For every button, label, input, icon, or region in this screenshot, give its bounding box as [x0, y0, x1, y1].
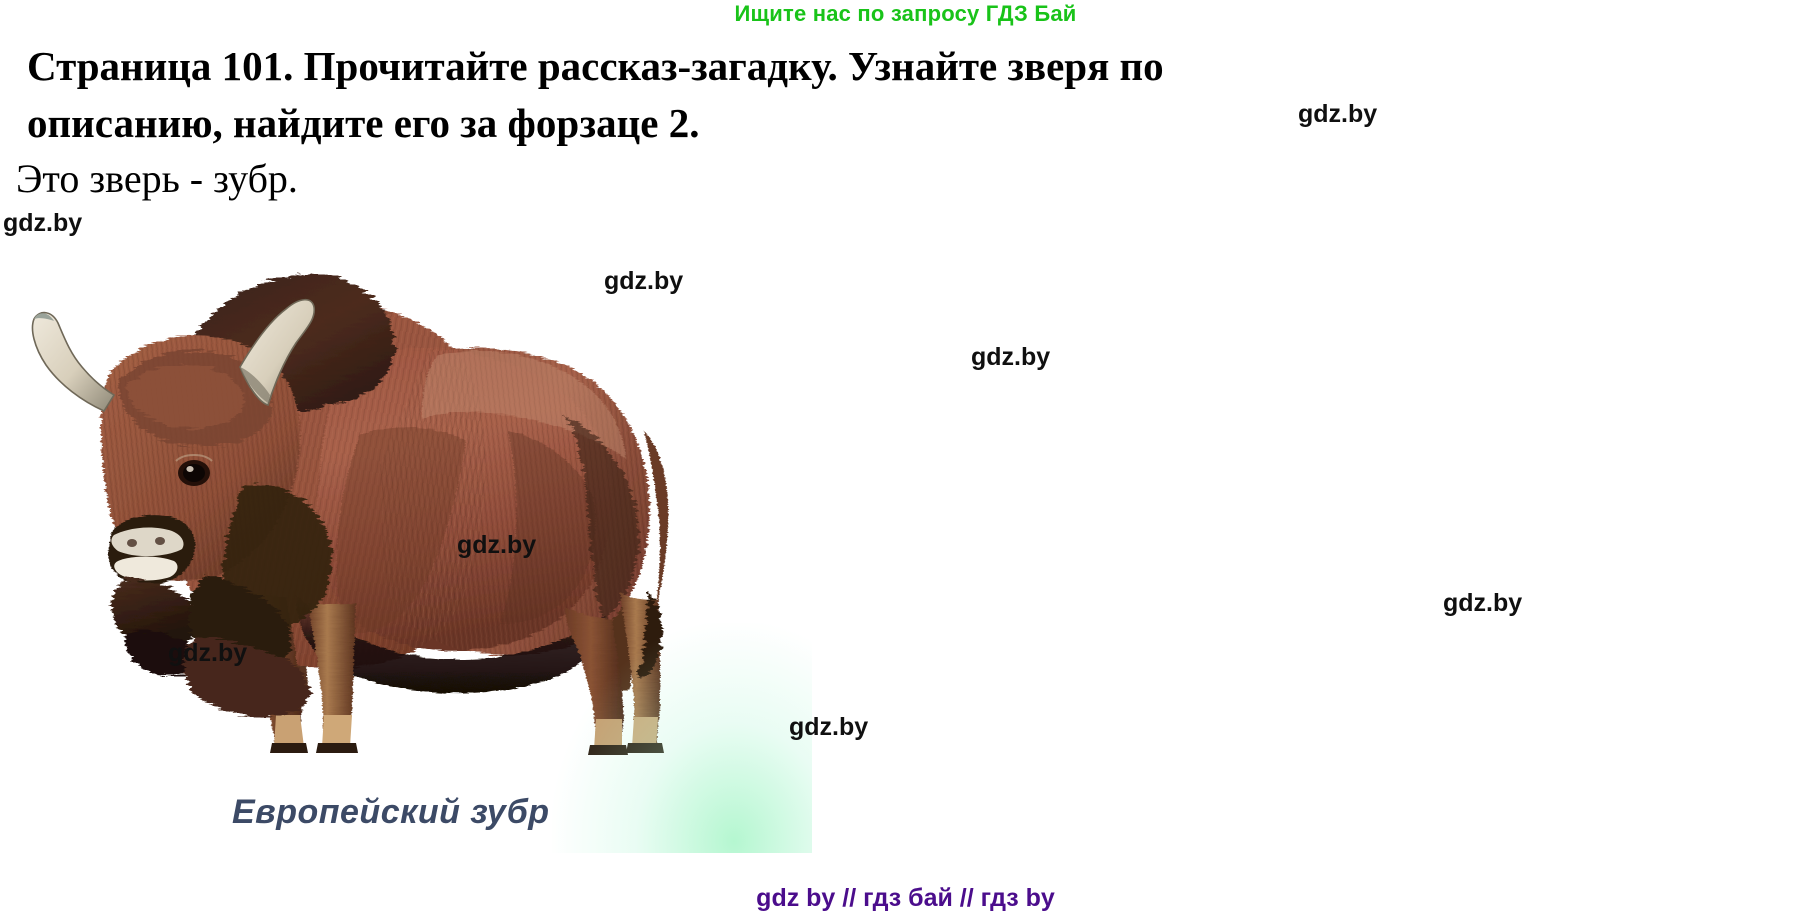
answer-text: Это зверь - зубр. — [16, 155, 298, 203]
task-heading-line-2: описанию, найдите его за форзаце 2. — [27, 95, 1787, 152]
task-heading: Страница 101. Прочитайте рассказ-загадку… — [27, 38, 1787, 153]
watermark: gdz.by — [1443, 589, 1522, 618]
watermark: gdz.by — [789, 713, 868, 742]
task-heading-line-1: Страница 101. Прочитайте рассказ-загадку… — [27, 43, 1164, 89]
watermark: gdz.by — [168, 639, 247, 668]
bison-figure: Европейский зубр — [0, 233, 812, 853]
watermark: gdz.by — [1298, 100, 1377, 129]
watermark: gdz.by — [971, 343, 1050, 372]
european-bison-illustration — [8, 235, 728, 775]
watermark: gdz.by — [457, 531, 536, 560]
watermark: gdz.by — [604, 267, 683, 296]
figure-caption: Европейский зубр — [232, 793, 550, 832]
watermark: gdz.by — [3, 209, 82, 238]
promo-text: Ищите нас по запросу ГДЗ Бай — [734, 1, 1076, 27]
promo-banner: Ищите нас по запросу ГДЗ Бай — [0, 0, 1811, 28]
footer-links: gdz by // гдз бай // гдз by — [0, 884, 1811, 913]
